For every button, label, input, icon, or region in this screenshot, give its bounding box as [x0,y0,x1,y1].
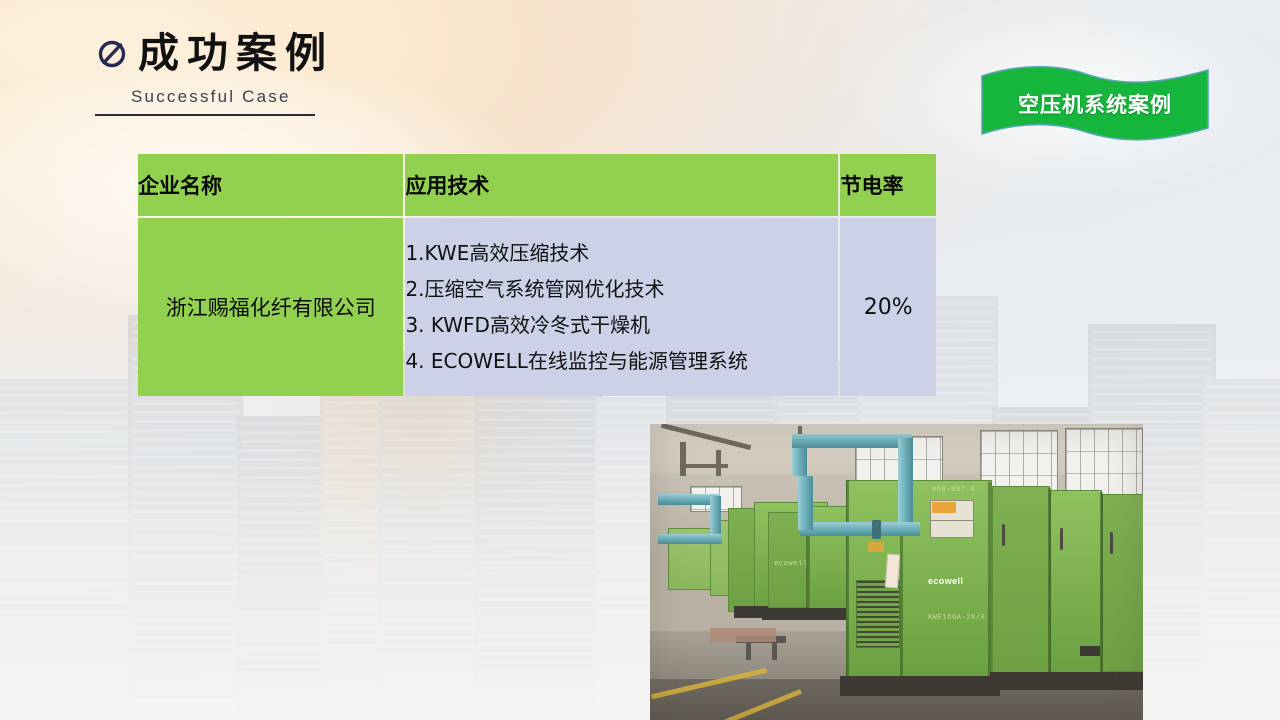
title-underline [95,114,315,116]
technology-item: 3. KWFD高效冷冬式干燥机 [405,307,838,343]
section-banner-label: 空压机系统案例 [978,62,1212,144]
technology-item: 1.KWE高效压缩技术 [405,235,838,271]
page-subtitle: Successful Case [131,87,334,107]
technology-item: 4. ECOWELL在线监控与能源管理系统 [405,343,838,379]
table-row: 浙江赐福化纤有限公司 1.KWE高效压缩技术 2.压缩空气系统管网优化技术 3.… [138,218,936,396]
section-banner: 空压机系统案例 [978,62,1212,144]
slide-root: 成功案例 Successful Case 空压机系统案例 企业名称 应用技术 节… [0,0,1280,720]
technology-item: 2.压缩空气系统管网优化技术 [405,271,838,307]
cell-saving-rate: 20% [840,218,936,396]
case-table: 企业名称 应用技术 节电率 浙江赐福化纤有限公司 1.KWE高效压缩技术 2.压… [136,152,938,398]
table-header-saving-rate: 节电率 [840,154,936,216]
page-title-block: 成功案例 Successful Case [95,32,334,116]
cell-company-name: 浙江赐福化纤有限公司 [138,218,403,396]
cell-technology-list: 1.KWE高效压缩技术 2.压缩空气系统管网优化技术 3. KWFD高效冷冬式干… [405,218,838,396]
table-header-company: 企业名称 [138,154,403,216]
air-compressor-room-photo: ecowell 060-087 0 ecowell KWE160A-2K/8 [650,424,1143,720]
table-header-technology: 应用技术 [405,154,838,216]
page-title: 成功案例 [138,32,334,75]
table-header-row: 企业名称 应用技术 节电率 [138,154,936,216]
null-symbol-icon [95,37,129,71]
